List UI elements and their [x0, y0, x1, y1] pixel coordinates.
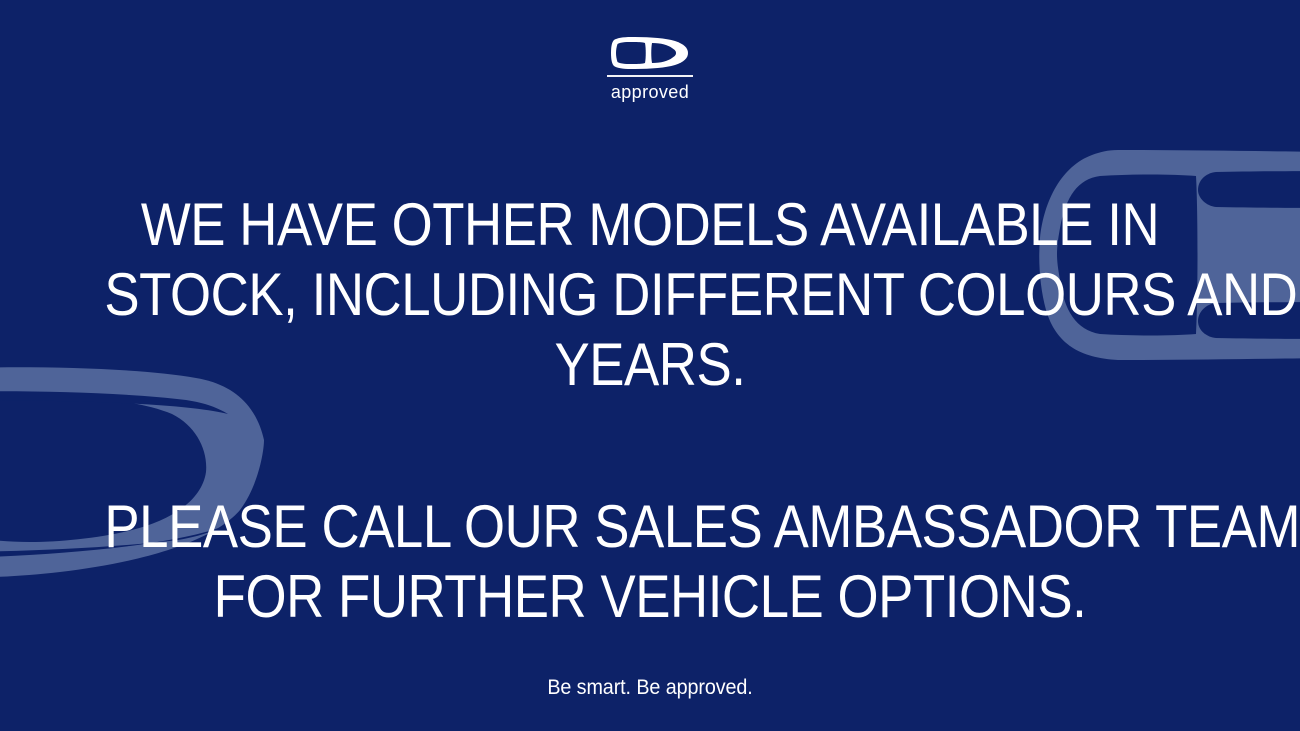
headline-line: WE HAVE OTHER MODELS AVAILABLE IN	[104, 190, 1195, 260]
paragraph-one: WE HAVE OTHER MODELS AVAILABLE IN STOCK,…	[30, 190, 1270, 400]
headline-line: PLEASE CALL OUR SALES AMBASSADOR TEAM	[104, 492, 1195, 562]
headline-line: YEARS.	[104, 330, 1195, 400]
logo-divider-rule	[607, 75, 693, 77]
brand-logo: approved	[0, 36, 1300, 101]
headline-line: FOR FURTHER VEHICLE OPTIONS.	[104, 562, 1195, 632]
brand-tagline: Be smart. Be approved.	[67, 676, 1233, 700]
car-top-view-icon	[611, 36, 689, 70]
message-block: WE HAVE OTHER MODELS AVAILABLE IN STOCK,…	[0, 190, 1300, 700]
paragraph-two: PLEASE CALL OUR SALES AMBASSADOR TEAM FO…	[30, 492, 1270, 632]
logo-wordmark: approved	[611, 83, 689, 101]
headline-line: STOCK, INCLUDING DIFFERENT COLOURS AND	[104, 260, 1195, 330]
paragraph-spacer	[30, 400, 1270, 492]
